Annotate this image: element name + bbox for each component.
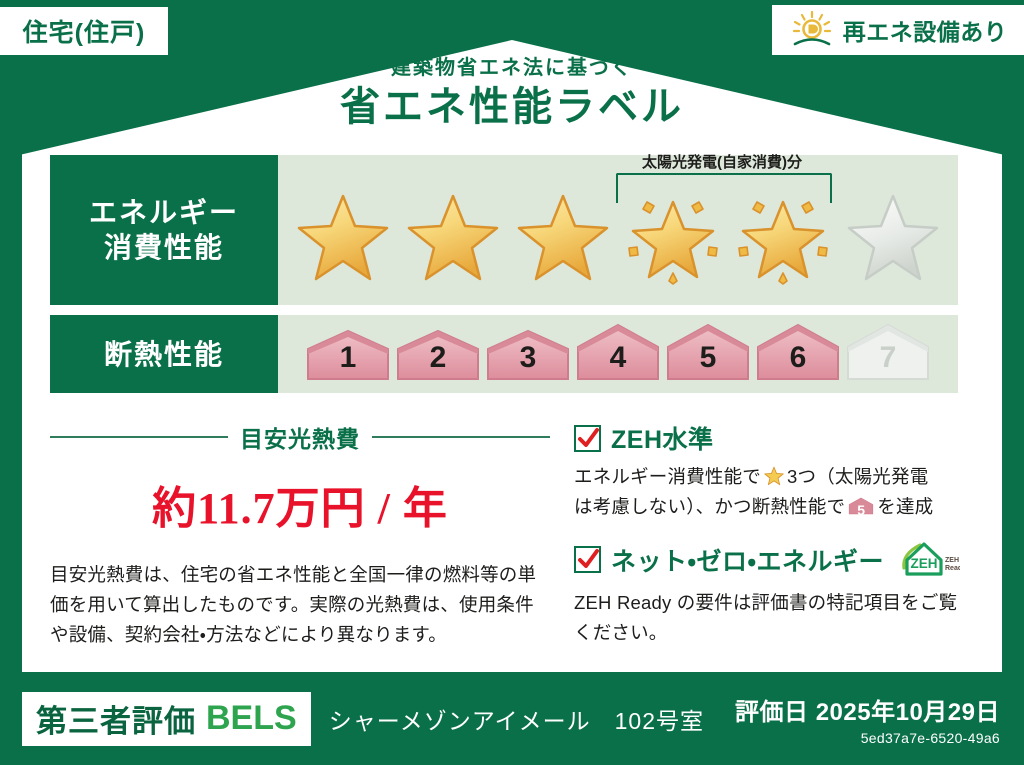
svg-text:Ready: Ready bbox=[945, 565, 960, 572]
cost-heading-label: 目安光熱費 bbox=[240, 420, 360, 454]
insulation-grade-scale: 1 2 3 bbox=[278, 321, 958, 387]
renewable-badge-label: 再エネ設備あり bbox=[843, 13, 1008, 47]
house-grade-icon: 5 bbox=[664, 321, 752, 383]
title-main: 省エネ性能ラベル bbox=[0, 84, 1024, 130]
rule-left bbox=[50, 436, 228, 438]
house-grade-icon: 1 bbox=[304, 327, 392, 383]
estimated-utility-cost-panel: 目安光熱費 約11.7万円 / 年 目安光熱費は、住宅の省エネ性能と全国一律の燃… bbox=[50, 420, 550, 664]
energy-performance-label: エネルギー 消費性能 bbox=[50, 155, 278, 305]
performance-rows: エネルギー 消費性能 太陽光発電(自家消費)分 bbox=[50, 155, 958, 403]
page-title: 建築物省エネ法に基づく 省エネ性能ラベル bbox=[0, 58, 1024, 130]
svg-text:ZEH: ZEH bbox=[945, 557, 959, 564]
zeh-ready-logo-icon: ZEH ZEH Ready bbox=[898, 538, 960, 582]
inline-house-number: 5 bbox=[848, 503, 874, 517]
insulation-performance-body: 1 2 3 bbox=[278, 315, 958, 393]
house-grade-icon: 4 bbox=[574, 321, 662, 383]
cost-value: 約11.7万円 / 年 bbox=[50, 472, 550, 536]
house-grade-icon: 3 bbox=[484, 327, 572, 383]
footer-bar: 第三者評価 BELS シャーメゾンアイメール 102号室 評価日 2025年10… bbox=[0, 672, 1024, 765]
star-icon-solar bbox=[621, 186, 725, 290]
cost-heading: 目安光熱費 bbox=[50, 420, 550, 454]
checkmark-icon bbox=[574, 546, 601, 573]
house-grade-icon: 6 bbox=[754, 321, 842, 383]
energy-label-line2: 消費性能 bbox=[104, 230, 224, 265]
bels-en-label: BELS bbox=[206, 699, 297, 738]
energy-performance-body: 太陽光発電(自家消費)分 bbox=[278, 155, 958, 305]
star-icon bbox=[401, 186, 505, 290]
zeh-desc-part2: は考慮しない）、かつ断熱性能で bbox=[574, 496, 845, 517]
property-name: シャーメゾンアイメール 102号室 bbox=[329, 702, 704, 736]
zeh-standard-title: ZEH水準 bbox=[611, 420, 714, 456]
zeh-panel: ZEH水準 エネルギー消費性能で3つ（太陽光発電は考慮しない）、かつ断熱性能で5… bbox=[550, 420, 960, 664]
zeh-desc-part3: を達成 bbox=[877, 496, 933, 517]
rule-right bbox=[372, 436, 550, 438]
zeh-netzero-head: ネット・ゼロ・エネルギー ZEH ZEH Ready bbox=[574, 538, 960, 582]
house-grade-icon: 2 bbox=[394, 327, 482, 383]
title-subtitle: 建築物省エネ法に基づく bbox=[0, 58, 1024, 78]
zeh-netzero-block: ネット・ゼロ・エネルギー ZEH ZEH Ready ZEH Ready の要件… bbox=[574, 538, 960, 648]
energy-label-line1: エネルギー bbox=[89, 195, 239, 230]
solar-sun-icon bbox=[789, 10, 835, 50]
zeh-desc-part1: エネルギー消費性能で bbox=[574, 466, 761, 487]
star-icon-inline bbox=[763, 465, 785, 487]
zeh-standard-block: ZEH水準 エネルギー消費性能で3つ（太陽光発電は考慮しない）、かつ断熱性能で5… bbox=[574, 420, 960, 522]
cost-note: 目安光熱費は、住宅の省エネ性能と全国一律の燃料等の単価を用いて算出したものです。… bbox=[50, 560, 550, 650]
zeh-netzero-desc: ZEH Ready の要件は評価書の特記項目をご覧ください。 bbox=[574, 588, 960, 648]
renewable-energy-badge: 再エネ設備あり bbox=[772, 5, 1024, 55]
housing-type-label: 住宅(住戸) bbox=[23, 13, 146, 49]
star-icon-empty bbox=[841, 186, 945, 290]
svg-text:ZEH: ZEH bbox=[911, 556, 938, 571]
house-grade-icon-inline: 5 bbox=[848, 495, 874, 517]
star-icon-solar bbox=[731, 186, 835, 290]
zeh-standard-desc: エネルギー消費性能で3つ（太陽光発電は考慮しない）、かつ断熱性能で5を達成 bbox=[574, 462, 960, 522]
bels-badge: 第三者評価 BELS bbox=[22, 692, 311, 746]
insulation-label-text: 断熱性能 bbox=[104, 337, 224, 372]
house-grade-icon-inactive: 7 bbox=[844, 321, 932, 383]
star-icon bbox=[291, 186, 395, 290]
evaluation-date: 評価日 2025年10月29日 bbox=[735, 692, 1000, 727]
zeh-netzero-title: ネット・ゼロ・エネルギー bbox=[611, 542, 884, 578]
bels-jp-label: 第三者評価 bbox=[36, 696, 196, 741]
insulation-performance-row: 断熱性能 1 2 bbox=[50, 315, 958, 393]
energy-performance-row: エネルギー 消費性能 太陽光発電(自家消費)分 bbox=[50, 155, 958, 305]
evaluation-info: 評価日 2025年10月29日 5ed37a7e-6520-49a6 bbox=[735, 692, 1000, 746]
housing-type-badge: 住宅(住戸) bbox=[0, 7, 168, 55]
checkmark-icon bbox=[574, 425, 601, 452]
zeh-desc-star-count: 3つ（太陽光発電 bbox=[787, 466, 928, 487]
star-icon bbox=[511, 186, 615, 290]
solar-bracket-label: 太陽光発電(自家消費)分 bbox=[602, 151, 842, 172]
evaluation-id: 5ed37a7e-6520-49a6 bbox=[735, 730, 1000, 746]
zeh-standard-head: ZEH水準 bbox=[574, 420, 960, 456]
insulation-performance-label: 断熱性能 bbox=[50, 315, 278, 393]
lower-section: 目安光熱費 約11.7万円 / 年 目安光熱費は、住宅の省エネ性能と全国一律の燃… bbox=[50, 420, 958, 664]
